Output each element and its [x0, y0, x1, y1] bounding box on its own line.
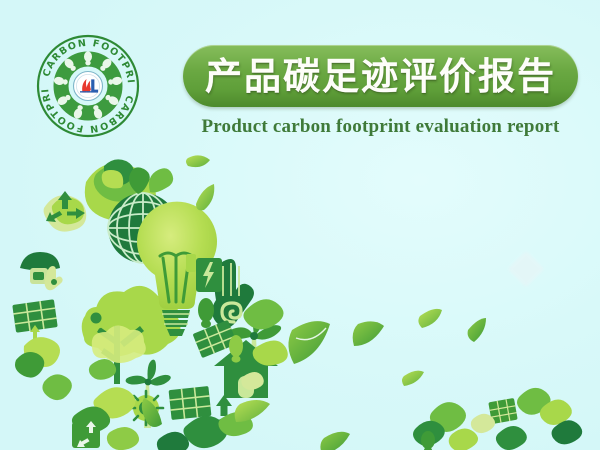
leaf-icon: [235, 400, 270, 422]
leaf-icon: [89, 359, 116, 380]
leaf-icon: [186, 155, 210, 167]
leaf-icon: [320, 432, 350, 450]
header: CARBON FOOTPRINT · CARBON FOOTPRINT ·: [0, 0, 600, 170]
leaf-icon: [449, 428, 478, 450]
carbon-footprint-seal-logo: CARBON FOOTPRINT · CARBON FOOTPRINT ·: [36, 34, 140, 138]
footprint-icon: [198, 298, 214, 328]
solar-panel-icon: [169, 386, 212, 420]
recycle-icon: [44, 191, 87, 232]
flower-icon: [85, 307, 107, 329]
poster-page: CARBON FOOTPRINT · CARBON FOOTPRINT ·: [0, 0, 600, 450]
footprint-cluster-bottom-right: [413, 388, 582, 450]
leaf-icon: [15, 352, 44, 378]
leaf-icon: [471, 414, 495, 433]
leaf-icon: [253, 340, 288, 365]
leaf-icon: [42, 374, 71, 400]
leaf-icon: [402, 371, 424, 386]
leaf-icon: [496, 426, 527, 450]
leaf-icon: [288, 321, 330, 364]
footprint-icon: [421, 431, 435, 450]
leaf-icon: [107, 427, 139, 450]
leaf-icon: [196, 184, 214, 210]
solar-panel-icon: [12, 299, 57, 339]
battery-icon: [196, 258, 222, 292]
toe-cluster-upper: [12, 191, 86, 400]
leaf-icon: [468, 318, 486, 342]
leaf-icon: [353, 321, 384, 346]
recycle-icon: [72, 421, 100, 448]
leaf-icon: [149, 168, 173, 192]
leaf-icon: [418, 309, 442, 328]
page-subtitle: Product carbon footprint evaluation repo…: [183, 116, 578, 138]
plug-icon: [186, 254, 196, 272]
seal-center-emblem: [74, 72, 103, 101]
leaf-icon: [243, 299, 283, 329]
leaf-icon: [157, 432, 189, 450]
title-banner: 产品碳足迹评价报告: [183, 45, 578, 107]
eco-icon-collage-artwork: [0, 150, 600, 450]
page-title: 产品碳足迹评价报告: [205, 58, 556, 95]
